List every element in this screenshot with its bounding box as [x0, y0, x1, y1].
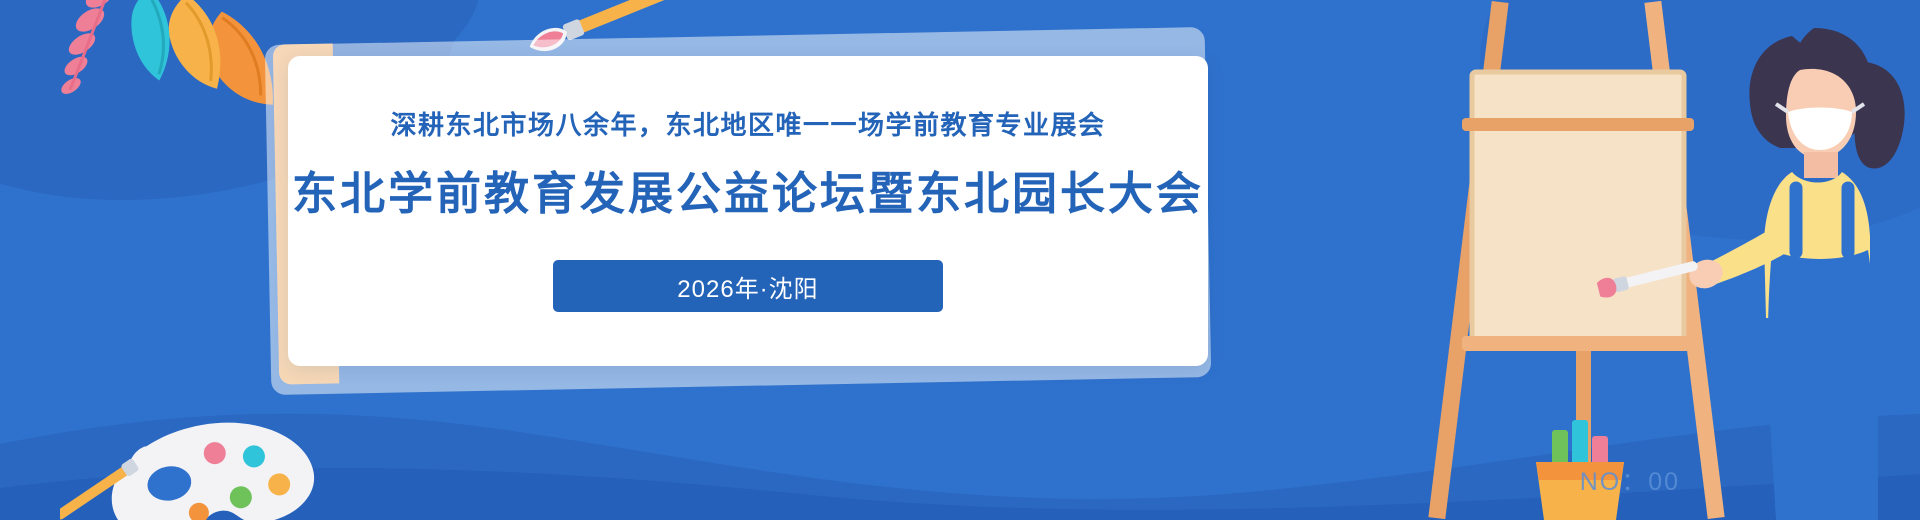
event-card: 深耕东北市场八余年，东北地区唯一一场学前教育专业展会 东北学前教育发展公益论坛暨…	[288, 56, 1208, 366]
watermark-number: NO：00	[1580, 462, 1680, 498]
artist-scene	[1400, 0, 1920, 520]
banner-background: 深耕东北市场八余年，东北地区唯一一场学前教育专业展会 东北学前教育发展公益论坛暨…	[0, 0, 1920, 520]
event-date-location-button[interactable]: 2026年·沈阳	[553, 260, 943, 312]
event-subtitle: 深耕东北市场八余年，东北地区唯一一场学前教育专业展会	[390, 112, 1105, 138]
event-title: 东北学前教育发展公益论坛暨东北园长大会	[292, 171, 1204, 216]
paint-palette-icon	[60, 408, 340, 520]
